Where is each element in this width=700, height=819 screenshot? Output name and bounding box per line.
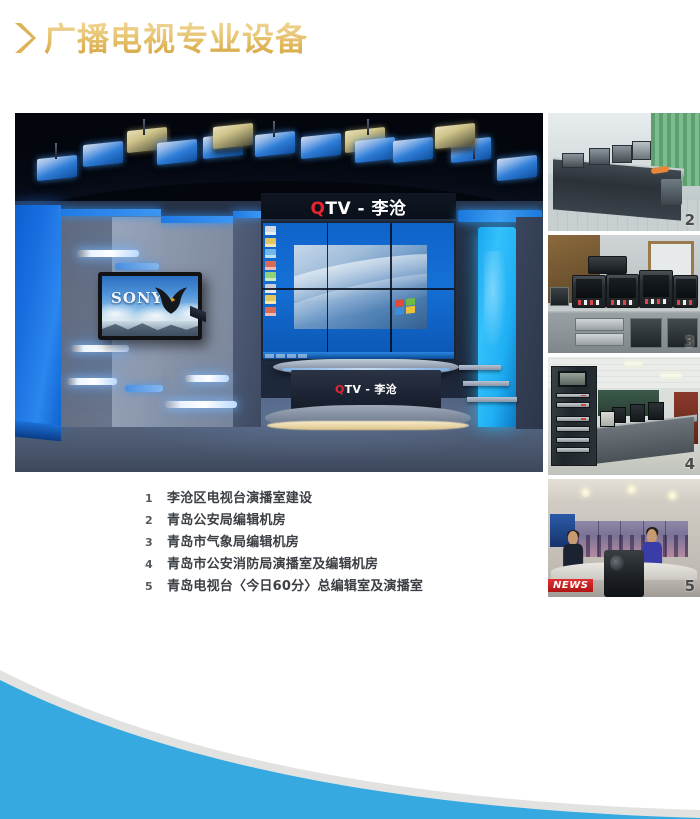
thumb5-studio-camera xyxy=(604,550,644,597)
sony-screen: SONY xyxy=(102,276,198,336)
list-item: 3 青岛市气象局编辑机房 xyxy=(145,531,525,553)
video-wall xyxy=(261,221,456,361)
thumb2-chair xyxy=(661,179,682,205)
qtv-logo-rest: TV - 李沧 xyxy=(325,199,406,219)
desk-logo-q: Q xyxy=(335,383,345,396)
thumb5-wall-seam xyxy=(665,521,666,556)
desktop-icons xyxy=(265,226,280,354)
rig-arm xyxy=(367,119,369,135)
shelf xyxy=(463,381,509,386)
camera-lens-icon xyxy=(610,555,624,571)
light-bar xyxy=(125,385,163,392)
thumb4-monitor xyxy=(630,404,645,422)
thumb3-crt-monitor xyxy=(572,275,605,308)
footer-wave xyxy=(0,634,700,819)
caption-text: 青岛市气象局编辑机房 xyxy=(167,531,299,550)
rig-light xyxy=(301,133,341,159)
rig-light xyxy=(83,141,123,167)
thumb2-monitor xyxy=(562,153,585,168)
footer-wave-svg xyxy=(0,634,700,819)
set-panel xyxy=(516,217,543,429)
sony-monitor: SONY xyxy=(98,272,202,340)
caption-text: 青岛公安局编辑机房 xyxy=(167,509,286,528)
rig-light xyxy=(255,131,295,157)
thumb-number: 2 xyxy=(685,211,695,229)
rig-light xyxy=(393,137,433,163)
wave-body xyxy=(0,680,700,819)
desk-logo-rest: TV - 李沧 xyxy=(345,383,397,396)
rig-light xyxy=(497,155,537,181)
light-bar xyxy=(71,345,129,352)
shelf xyxy=(459,365,501,370)
thumb-number: 4 xyxy=(685,455,695,473)
list-item: 4 青岛市公安消防局演播室及编辑机房 xyxy=(145,553,525,575)
thumb3-crt-monitor xyxy=(606,274,639,308)
thumb4-equipment-rack xyxy=(551,366,597,465)
thumb3-crt-monitor xyxy=(639,270,672,308)
thumb2-monitor xyxy=(612,145,632,163)
list-item: 2 青岛公安局编辑机房 xyxy=(145,509,525,531)
video-wall-seam xyxy=(390,223,392,359)
thumb4-rack-unit xyxy=(556,447,589,453)
news-overlay-badge: NEWS xyxy=(548,579,593,592)
caption-number: 1 xyxy=(145,492,167,505)
page-header: 广播电视专业设备 xyxy=(0,0,700,95)
thumb4-rack-unit xyxy=(556,437,589,443)
light-bar xyxy=(77,250,139,257)
thumb3-rack-unit xyxy=(550,287,570,306)
panel-top-light xyxy=(161,216,233,223)
thumb4-rack-unit xyxy=(556,402,589,408)
mountains-graphic xyxy=(102,320,198,336)
thumb-editing-room: 2 xyxy=(548,113,700,231)
thumb4-ceiling-lamp xyxy=(624,362,642,366)
thumb2-monitor xyxy=(632,141,652,160)
thumb5-wall-seam xyxy=(598,521,599,556)
tv-studio-photo: SONY QTV - 李沧 xyxy=(15,113,543,472)
chevron-right-icon xyxy=(12,21,38,55)
eagle-icon xyxy=(154,286,188,316)
light-bar xyxy=(165,401,237,408)
desktop-icon xyxy=(265,249,276,258)
caption-number: 3 xyxy=(145,536,167,549)
video-wall-seam xyxy=(263,288,454,290)
rig-light xyxy=(37,155,77,181)
qtv-logo-q: Q xyxy=(310,199,325,219)
light-bar xyxy=(67,378,117,385)
caption-number: 4 xyxy=(145,558,167,571)
light-bar xyxy=(115,263,159,270)
light-bar xyxy=(185,375,229,382)
rig-arm xyxy=(273,121,275,137)
blue-pillar-left xyxy=(15,205,61,427)
thumb-crt-monitors: 3 xyxy=(548,235,700,353)
thumb3-av-receiver xyxy=(588,256,628,274)
rig-arm xyxy=(55,143,57,159)
thumb4-monitor xyxy=(648,402,663,420)
thumb4-rack-unit xyxy=(556,426,589,432)
caption-text: 青岛电视台〈今日60分〉总编辑室及演播室 xyxy=(167,575,423,594)
rig-light xyxy=(435,123,475,149)
platform-edge-glow xyxy=(267,421,469,430)
thumb5-downlight xyxy=(668,491,677,500)
desktop-icon xyxy=(265,307,276,316)
windows-logo-icon xyxy=(395,298,415,315)
thumb2-monitor xyxy=(589,148,610,165)
desktop-taskbar xyxy=(263,352,454,359)
desktop-icon xyxy=(265,295,276,304)
list-item: 1 李沧区电视台演播室建设 xyxy=(145,487,525,509)
thumb-control-room: 4 xyxy=(548,357,700,475)
thumb-number: 5 xyxy=(685,577,695,595)
thumb5-downlight xyxy=(627,485,636,494)
thumb-news-studio: NEWS 5 xyxy=(548,479,700,597)
shelf xyxy=(467,397,517,402)
caption-text: 李沧区电视台演播室建设 xyxy=(167,487,312,506)
panel-top-light xyxy=(61,209,161,216)
video-wall-seam xyxy=(327,223,329,359)
rig-light xyxy=(157,139,197,165)
qtv-logo-text: QTV - 李沧 xyxy=(310,194,406,219)
desktop-icon xyxy=(265,226,276,235)
desktop-icon xyxy=(265,261,276,270)
page-title: 广播电视专业设备 xyxy=(44,18,308,60)
desktop-wallpaper xyxy=(294,245,428,329)
desktop-icon xyxy=(265,238,276,247)
studio-logo-band: QTV - 李沧 xyxy=(261,193,456,219)
caption-text: 青岛市公安消防局演播室及编辑机房 xyxy=(167,553,378,572)
thumb-number: 3 xyxy=(685,333,695,351)
caption-list: 1 李沧区电视台演播室建设 2 青岛公安局编辑机房 3 青岛市气象局编辑机房 4… xyxy=(145,487,525,597)
rig-light xyxy=(355,137,395,163)
thumb3-rack-unit xyxy=(630,318,662,349)
thumb4-monitor xyxy=(600,411,615,426)
caption-number: 5 xyxy=(145,580,167,593)
thumb4-rack-unit xyxy=(556,393,589,399)
video-wall-screen xyxy=(263,223,454,359)
panel-top-light xyxy=(233,211,261,218)
list-item: 5 青岛电视台〈今日60分〉总编辑室及演播室 xyxy=(145,575,525,597)
desk-logo-text: QTV - 李沧 xyxy=(291,381,441,397)
page-root: 广播电视专业设备 xyxy=(0,0,700,819)
thumb4-rack-unit xyxy=(556,416,589,422)
thumb3-rack-unit xyxy=(575,318,624,331)
thumb4-rack-monitor xyxy=(558,371,587,387)
set-panel xyxy=(233,211,261,427)
thumb5-ceiling xyxy=(548,479,700,503)
rig-arm xyxy=(473,143,475,159)
thumb3-crt-monitor xyxy=(673,275,699,308)
rig-arm xyxy=(143,119,145,135)
rig-light xyxy=(213,123,253,149)
thumb3-rack-unit xyxy=(575,333,624,346)
caption-number: 2 xyxy=(145,514,167,527)
thumb4-ceiling-lamp xyxy=(660,374,681,378)
desktop-icon xyxy=(265,272,276,281)
